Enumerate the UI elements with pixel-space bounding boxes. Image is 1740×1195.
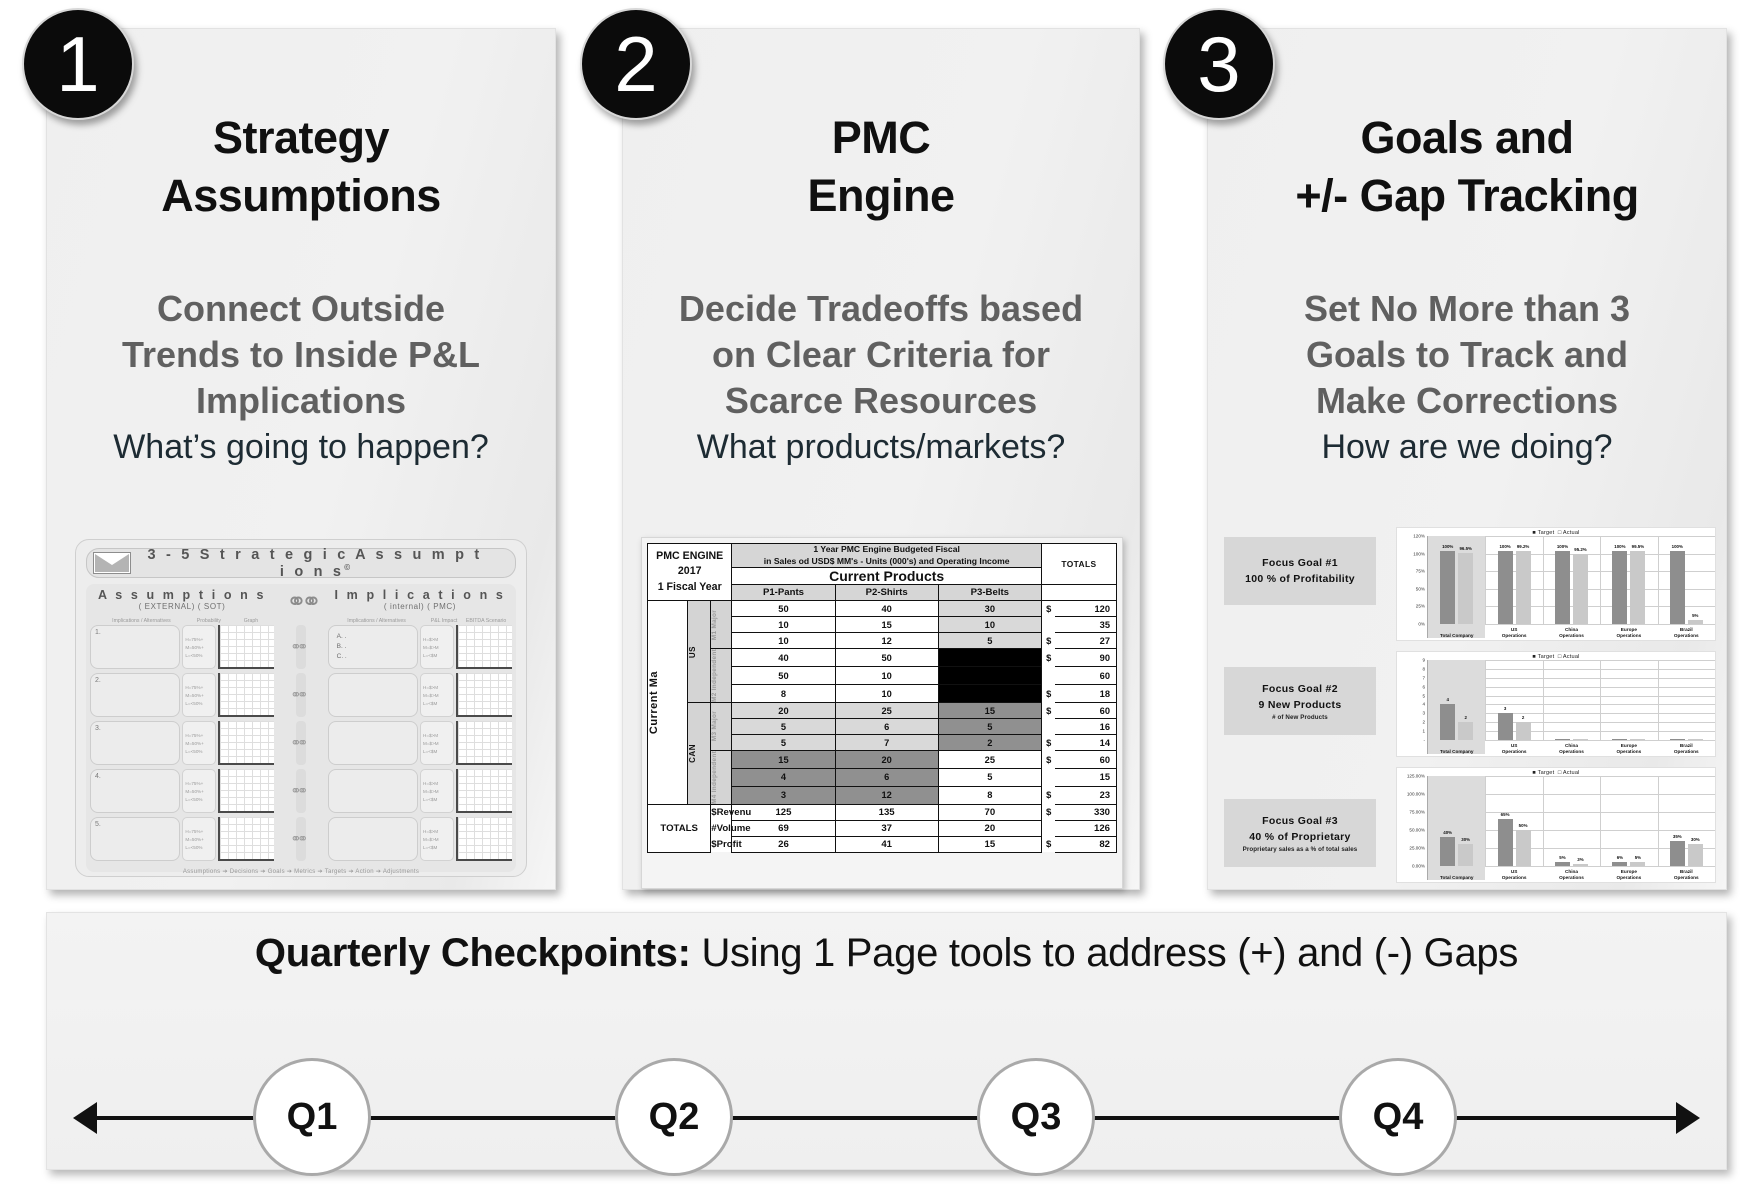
bar-target: [1612, 739, 1627, 740]
worksheet-row: 5.H=75%+M=50%+L=<50%⚭⚭H=$>MM=$>ML=<$M: [90, 817, 512, 861]
assumption-graph: [218, 625, 274, 669]
bar-actual: 2: [1458, 722, 1473, 740]
x-category-label: ChinaOperations: [1543, 627, 1600, 638]
x-category-label: Total Company: [1428, 875, 1485, 880]
chart-plot-area: 100%96.5%Total Company100%99.2%USOperati…: [1427, 536, 1715, 638]
quarter-marker-q3[interactable]: Q3: [977, 1058, 1095, 1176]
pmc-currency-symbol: $: [1041, 685, 1055, 703]
bar-target: 35%: [1670, 841, 1685, 866]
pmc-cell-p3: 2: [938, 735, 1041, 751]
pmc-totals-row: $Profit264115$82: [648, 836, 1117, 852]
x-category-label: ChinaOperations: [1543, 869, 1600, 880]
pmc-product-header: P2-Shirts: [835, 585, 938, 601]
chart-legend: ■ Target □ Actual: [1397, 768, 1715, 776]
quarterly-checkpoints-panel[interactable]: Quarterly Checkpoints: Using 1 Page tool…: [46, 912, 1727, 1170]
pmc-totals-p2: 135: [835, 804, 938, 820]
y-tick-label: 0.00%: [1412, 864, 1425, 869]
pmc-currency-symbol: $: [1041, 601, 1055, 617]
pmc-cell-p3: 5: [938, 768, 1041, 786]
pmc-totals-p3: 70: [938, 804, 1041, 820]
x-category-label: EuropeOperations: [1600, 869, 1657, 880]
card-1-subtitle: Connect Outside Trends to Inside P&L Imp…: [47, 286, 555, 424]
pmc-currency-symbol: $: [1041, 633, 1055, 649]
y-tick-label: 100%: [1413, 551, 1425, 556]
pmc-corner-cell: PMC ENGINE20171 Fiscal Year: [648, 544, 732, 601]
bar-target: [1555, 739, 1570, 740]
pmc-totals-grand: 126: [1055, 820, 1116, 836]
pmc-cell-p1: 5: [732, 735, 835, 751]
chain-spacer: ⚭⚭: [274, 673, 327, 717]
pmc-totals-grand: 330: [1055, 804, 1116, 820]
worksheet-row: 4.H=75%+M=50%+L=<50%⚭⚭H=$>MM=$>ML=<$M: [90, 769, 512, 813]
bar-actual: 99.5%: [1630, 551, 1645, 624]
pmc-group-header: Current Products: [732, 568, 1042, 585]
pmc-cell-p2: 12: [835, 633, 938, 649]
pmc-cell-p1: 40: [732, 649, 835, 667]
pmc-cell-p2: 10: [835, 685, 938, 703]
strategic-assumptions-worksheet[interactable]: 3 - 5 S t r a t e g i c A s s u m p t i …: [75, 539, 527, 877]
quarterly-checkpoints-title-bold: Quarterly Checkpoints:: [255, 931, 691, 975]
pmc-cell-p1: 20: [732, 703, 835, 719]
chain-link-icon: ⚭⚭: [274, 588, 328, 615]
implication-cell[interactable]: [328, 673, 418, 717]
bar-target: 100%: [1440, 551, 1455, 624]
pmc-cell-total: 35: [1055, 617, 1116, 633]
pl-impact-cell: H=$>MM=$>ML=<$M: [420, 625, 454, 669]
pmc-cell-total: 14: [1055, 735, 1116, 751]
quarterly-checkpoints-title: Quarterly Checkpoints: Using 1 Page tool…: [47, 931, 1726, 976]
worksheet-column-headings: A s s u m p t i o n s ( EXTERNAL) ( SOT)…: [90, 588, 512, 615]
pmc-cell-total: 60: [1055, 751, 1116, 769]
pmc-cell-p2: 20: [835, 751, 938, 769]
probability-cell: H=75%+M=50%+L=<50%: [182, 769, 216, 813]
bar-actual: 99.2%: [1516, 551, 1531, 624]
implication-cell[interactable]: [328, 769, 418, 813]
quarter-marker-q2[interactable]: Q2: [615, 1058, 733, 1176]
assumption-cell[interactable]: 4.: [90, 769, 180, 813]
card-pmc-engine[interactable]: PMC Engine Decide Tradeoffs based on Cle…: [622, 28, 1140, 890]
y-tick-label: 8: [1422, 666, 1425, 671]
pmc-totals-header: TOTALS: [1041, 544, 1116, 585]
bar-target: 6%: [1612, 862, 1627, 866]
bar-actual: 95.2%: [1573, 554, 1588, 624]
y-tick-label: 5: [1422, 693, 1425, 698]
pmc-totals-currency: [1041, 820, 1055, 836]
pmc-totals-metric: $Profit: [711, 836, 732, 852]
x-category-label: Total Company: [1428, 749, 1485, 754]
chart-y-axis: 987654321-: [1397, 660, 1427, 754]
pmc-market-label: M2 Independent: [711, 649, 732, 703]
bar-target: 65%: [1498, 819, 1513, 866]
worksheet-footer: Assumptions ➔ Decisions ➔ Goals ➔ Metric…: [90, 865, 512, 875]
chart-panel: 987654321-42Total Company32USOperationsC…: [1397, 660, 1715, 754]
ebitda-scenario-graph: [456, 721, 512, 765]
pmc-cell-p3: 30: [938, 601, 1041, 617]
chart-panel: 120%100%75%50%25%0%100%96.5%Total Compan…: [1397, 536, 1715, 638]
chart-plot-area: 42Total Company32USOperationsChinaOperat…: [1427, 660, 1715, 754]
card-2-title: PMC Engine: [623, 109, 1139, 224]
y-tick-label: 25.00%: [1409, 846, 1425, 851]
pmc-product-header: P1-Pants: [732, 585, 835, 601]
y-tick-label: 75.00%: [1409, 810, 1425, 815]
bar-target: 3: [1498, 713, 1513, 740]
pl-impact-cell: H=$>MM=$>ML=<$M: [420, 817, 454, 861]
envelope-icon: [93, 552, 131, 574]
card-1-title: Strategy Assumptions: [47, 109, 555, 224]
chart-plot-area: 40%30%Total Company65%50%USOperations5%3…: [1427, 776, 1715, 880]
assumption-graph: [218, 721, 274, 765]
arrow-left-icon: [73, 1102, 97, 1134]
pmc-cell-total: 27: [1055, 633, 1116, 649]
y-tick-label: 120%: [1413, 534, 1425, 539]
pmc-currency-symbol: $: [1041, 735, 1055, 751]
ebitda-scenario-graph: [456, 769, 512, 813]
quarter-marker-q4[interactable]: Q4: [1339, 1058, 1457, 1176]
pmc-product-header: P3-Belts: [938, 585, 1041, 601]
assumption-cell[interactable]: 3.: [90, 721, 180, 765]
goal-3-bar-chart[interactable]: ■ Target □ Actual125.00%100.00%75.00%50.…: [1396, 767, 1716, 883]
pmc-market-label: M1 Major: [711, 601, 732, 649]
bar-target: 100%: [1670, 551, 1685, 624]
pmc-cell-p1: 50: [732, 667, 835, 685]
x-category-label: ChinaOperations: [1543, 743, 1600, 754]
arrow-right-icon: [1676, 1102, 1700, 1134]
pmc-cell-total: 120: [1055, 601, 1116, 617]
worksheet-body: A s s u m p t i o n s ( EXTERNAL) ( SOT)…: [86, 584, 516, 872]
pmc-cell-total: 15: [1055, 768, 1116, 786]
pmc-currency-symbol: $: [1041, 703, 1055, 719]
pmc-region-label: CAN: [687, 703, 710, 805]
pmc-totals-row: #Volume693720126: [648, 820, 1117, 836]
card-3-title: Goals and +/- Gap Tracking: [1208, 109, 1726, 224]
focus-goal-2-box: Focus Goal #2 9 New Products # of New Pr…: [1224, 667, 1376, 735]
chart-legend: ■ Target □ Actual: [1397, 652, 1715, 660]
y-tick-label: 125.00%: [1407, 774, 1425, 779]
assumption-cell[interactable]: 1.: [90, 625, 180, 669]
y-tick-label: 6: [1422, 684, 1425, 689]
ebitda-scenario-graph: [456, 817, 512, 861]
slide-canvas: Strategy Assumptions Connect Outside Tre…: [0, 0, 1740, 1195]
pmc-totals-grand: 82: [1055, 836, 1116, 852]
bar-actual: [1630, 739, 1645, 740]
step-badge-3: 3: [1163, 8, 1275, 120]
chain-link-icon: ⚭⚭: [290, 783, 304, 799]
bar-actual: 50%: [1516, 830, 1531, 866]
pmc-currency-symbol: [1041, 768, 1055, 786]
x-category-label: EuropeOperations: [1600, 743, 1657, 754]
pmc-totals-p3: 20: [938, 820, 1041, 836]
pmc-currency-symbol: [1041, 719, 1055, 735]
pmc-cell-p1: 8: [732, 685, 835, 703]
pmc-totals-currency: $: [1041, 836, 1055, 852]
bar-actual: [1573, 739, 1588, 740]
pmc-cell-total: 60: [1055, 667, 1116, 685]
bar-actual: 5%: [1688, 620, 1703, 624]
card-strategy-assumptions[interactable]: Strategy Assumptions Connect Outside Tre…: [46, 28, 556, 890]
y-tick-label: 75%: [1416, 569, 1425, 574]
quarter-marker-q1[interactable]: Q1: [253, 1058, 371, 1176]
pmc-cell-p2: 7: [835, 735, 938, 751]
ebitda-scenario-graph: [456, 625, 512, 669]
chain-spacer: ⚭⚭: [274, 625, 327, 669]
y-tick-label: 50%: [1416, 586, 1425, 591]
pl-impact-cell: H=$>MM=$>ML=<$M: [420, 721, 454, 765]
goal-2-bar-chart[interactable]: ■ Target □ Actual987654321-42Total Compa…: [1396, 651, 1716, 757]
x-category-label: USOperations: [1485, 743, 1542, 754]
pmc-header-row-1: PMC ENGINE20171 Fiscal Year1 Year PMC En…: [648, 544, 1117, 568]
pmc-currency-symbol: $: [1041, 751, 1055, 769]
pmc-cell-p3: [938, 649, 1041, 667]
card-1-question: What’s going to happen?: [47, 428, 555, 467]
pmc-market-label: M4 Independent: [711, 751, 732, 805]
implication-cell[interactable]: [328, 817, 418, 861]
pmc-cell-total: 18: [1055, 685, 1116, 703]
chain-link-icon: ⚭⚭: [290, 639, 304, 655]
bar-target: 100%: [1555, 551, 1570, 624]
x-category-label: BrazilOperations: [1658, 743, 1715, 754]
bar-actual: 5%: [1630, 862, 1645, 866]
x-category-label: USOperations: [1485, 627, 1542, 638]
pmc-data-row: M4 Independent152025$60: [648, 751, 1117, 769]
probability-cell: H=75%+M=50%+L=<50%: [182, 625, 216, 669]
bar-actual: [1688, 739, 1703, 740]
pmc-band-cell: 1 Year PMC Engine Budgeted Fiscalin Sale…: [732, 544, 1042, 568]
y-tick-label: 1: [1422, 729, 1425, 734]
chain-spacer: ⚭⚭: [274, 769, 327, 813]
bar-target: 40%: [1440, 837, 1455, 866]
pmc-cell-p3: 15: [938, 703, 1041, 719]
chart-y-axis: 125.00%100.00%75.00%50.00%25.00%0.00%: [1397, 776, 1427, 880]
pmc-currency-symbol: [1041, 617, 1055, 633]
probability-cell: H=75%+M=50%+L=<50%: [182, 673, 216, 717]
x-category-label: BrazilOperations: [1658, 627, 1715, 638]
chain-link-icon: ⚭⚭: [290, 831, 304, 847]
pmc-market-label: M3 Major: [711, 703, 732, 751]
card-3-subtitle: Set No More than 3 Goals to Track and Ma…: [1208, 286, 1726, 424]
goal-tracking-dashboard[interactable]: Focus Goal #1 100 % of Profitability Foc…: [1224, 527, 1716, 883]
bar-target: 100%: [1498, 551, 1513, 624]
pmc-side-label: Current Ma: [648, 601, 688, 805]
pmc-cell-p3: [938, 667, 1041, 685]
implication-cell[interactable]: [328, 721, 418, 765]
pmc-cell-p1: 10: [732, 617, 835, 633]
bar-actual: 30%: [1458, 844, 1473, 866]
pmc-cell-p2: 6: [835, 768, 938, 786]
pmc-cell-total: 60: [1055, 703, 1116, 719]
assumption-cell[interactable]: 2.: [90, 673, 180, 717]
pmc-cell-total: 16: [1055, 719, 1116, 735]
pmc-cell-p2: 50: [835, 649, 938, 667]
pmc-totals-p2: 37: [835, 820, 938, 836]
implication-cell[interactable]: A. .B. .C. .: [328, 625, 418, 669]
pmc-totals-metric: $Revenu: [711, 804, 732, 820]
x-category-label: USOperations: [1485, 869, 1542, 880]
y-tick-label: 9: [1422, 658, 1425, 663]
worksheet-title: 3 - 5 S t r a t e g i c A s s u m p t i …: [141, 547, 515, 580]
card-goals-gap-tracking[interactable]: Goals and +/- Gap Tracking Set No More t…: [1207, 28, 1727, 890]
worksheet-row: 1.H=75%+M=50%+L=<50%⚭⚭A. .B. .C. .H=$>MM…: [90, 625, 512, 669]
y-tick-label: 3: [1422, 711, 1425, 716]
bar-actual: 30%: [1688, 844, 1703, 866]
pmc-cell-p3: 25: [938, 751, 1041, 769]
y-tick-label: 25%: [1416, 604, 1425, 609]
implications-heading: I m p l i c a t i o n s ( internal) ( PM…: [328, 588, 512, 611]
focus-goal-1-box: Focus Goal #1 100 % of Profitability: [1224, 537, 1376, 605]
pmc-engine-table-wrapper[interactable]: PMC ENGINE20171 Fiscal Year1 Year PMC En…: [641, 537, 1123, 889]
assumption-graph: [218, 769, 274, 813]
pmc-cell-p1: 10: [732, 633, 835, 649]
pmc-engine-table: PMC ENGINE20171 Fiscal Year1 Year PMC En…: [647, 543, 1117, 853]
pmc-cell-p3: 8: [938, 786, 1041, 804]
pl-impact-cell: H=$>MM=$>ML=<$M: [420, 673, 454, 717]
pmc-cell-p3: [938, 685, 1041, 703]
y-tick-label: 50.00%: [1409, 828, 1425, 833]
chain-spacer: ⚭⚭: [274, 721, 327, 765]
y-tick-label: 2: [1422, 720, 1425, 725]
assumptions-heading: A s s u m p t i o n s ( EXTERNAL) ( SOT): [90, 588, 274, 611]
x-category-label: Total Company: [1428, 633, 1485, 638]
card-2-question: What products/markets?: [623, 428, 1139, 467]
x-category-label: BrazilOperations: [1658, 869, 1715, 880]
pmc-totals-row: TOTALS$Revenu12513570$330: [648, 804, 1117, 820]
pmc-cell-p1: 15: [732, 751, 835, 769]
pmc-cell-p2: 10: [835, 667, 938, 685]
pmc-cell-p3: 5: [938, 633, 1041, 649]
assumption-graph: [218, 673, 274, 717]
pmc-cell-total: 23: [1055, 786, 1116, 804]
quarter-timeline: Q1 Q2 Q3 Q4: [85, 1058, 1688, 1178]
y-tick-label: 100.00%: [1407, 792, 1425, 797]
y-tick-label: -: [1423, 738, 1425, 743]
pmc-totals-metric: #Volume: [711, 820, 732, 836]
pmc-totals-p1: 26: [732, 836, 835, 852]
pmc-totals-p2: 41: [835, 836, 938, 852]
pmc-totals-p3: 15: [938, 836, 1041, 852]
pmc-region-label: US: [687, 601, 710, 703]
pmc-cell-p2: 6: [835, 719, 938, 735]
bar-target: 100%: [1612, 551, 1627, 624]
probability-cell: H=75%+M=50%+L=<50%: [182, 721, 216, 765]
pmc-cell-p3: 5: [938, 719, 1041, 735]
focus-goal-3-box: Focus Goal #3 40 % of Proprietary Propri…: [1224, 799, 1376, 867]
ebitda-scenario-graph: [456, 673, 512, 717]
worksheet-row: 2.H=75%+M=50%+L=<50%⚭⚭H=$>MM=$>ML=<$M: [90, 673, 512, 717]
chart-y-axis: 120%100%75%50%25%0%: [1397, 536, 1427, 638]
worksheet-rows: 1.H=75%+M=50%+L=<50%⚭⚭A. .B. .C. .H=$>MM…: [90, 625, 512, 861]
bar-target: 4: [1440, 704, 1455, 740]
y-tick-label: 0%: [1418, 622, 1425, 627]
probability-cell: H=75%+M=50%+L=<50%: [182, 817, 216, 861]
pmc-cell-p2: 40: [835, 601, 938, 617]
chain-link-icon: ⚭⚭: [290, 735, 304, 751]
pmc-cell-p1: 5: [732, 719, 835, 735]
pmc-totals-currency: $: [1041, 804, 1055, 820]
worksheet-header: 3 - 5 S t r a t e g i c A s s u m p t i …: [86, 548, 516, 578]
step-badge-1: 1: [22, 8, 134, 120]
chart-panel: 125.00%100.00%75.00%50.00%25.00%0.00%40%…: [1397, 776, 1715, 880]
pmc-cell-p2: 12: [835, 786, 938, 804]
pmc-totals-row-label: TOTALS: [648, 804, 711, 852]
worksheet-row: 3.H=75%+M=50%+L=<50%⚭⚭H=$>MM=$>ML=<$M: [90, 721, 512, 765]
pmc-totals-spacer: [1041, 585, 1116, 601]
worksheet-minor-column-labels: Implications / Alternatives Probability …: [90, 615, 512, 625]
bar-target: [1670, 739, 1685, 740]
pmc-currency-symbol: [1041, 667, 1055, 685]
card-3-question: How are we doing?: [1208, 428, 1726, 467]
bar-actual: 96.5%: [1458, 553, 1473, 624]
y-tick-label: 4: [1422, 702, 1425, 707]
x-category-label: EuropeOperations: [1600, 627, 1657, 638]
quarterly-checkpoints-title-rest: Using 1 Page tools to address (+) and (-…: [691, 931, 1518, 975]
pmc-cell-p1: 3: [732, 786, 835, 804]
assumption-graph: [218, 817, 274, 861]
assumption-cell[interactable]: 5.: [90, 817, 180, 861]
pmc-data-row: M2 Independent4050$90: [648, 649, 1117, 667]
pmc-cell-p2: 25: [835, 703, 938, 719]
pl-impact-cell: H=$>MM=$>ML=<$M: [420, 769, 454, 813]
goal-1-bar-chart[interactable]: ■ Target □ Actual120%100%75%50%25%0%100%…: [1396, 527, 1716, 641]
pmc-data-row: CANM3 Major202515$60: [648, 703, 1117, 719]
chain-link-icon: ⚭⚭: [290, 687, 304, 703]
chart-legend: ■ Target □ Actual: [1397, 528, 1715, 536]
pmc-currency-symbol: $: [1041, 649, 1055, 667]
bar-target: 5%: [1555, 862, 1570, 866]
chain-spacer: ⚭⚭: [274, 817, 327, 861]
pmc-cell-p1: 50: [732, 601, 835, 617]
pmc-cell-p1: 4: [732, 768, 835, 786]
bar-actual: 3%: [1573, 864, 1588, 866]
pmc-cell-p2: 15: [835, 617, 938, 633]
y-tick-label: 7: [1422, 675, 1425, 680]
step-badge-2: 2: [580, 8, 692, 120]
pmc-currency-symbol: $: [1041, 786, 1055, 804]
pmc-cell-p3: 10: [938, 617, 1041, 633]
card-2-subtitle: Decide Tradeoffs based on Clear Criteria…: [623, 286, 1139, 424]
bar-actual: 2: [1516, 722, 1531, 740]
pmc-data-row: Current MaUSM1 Major504030$120: [648, 601, 1117, 617]
pmc-cell-total: 90: [1055, 649, 1116, 667]
